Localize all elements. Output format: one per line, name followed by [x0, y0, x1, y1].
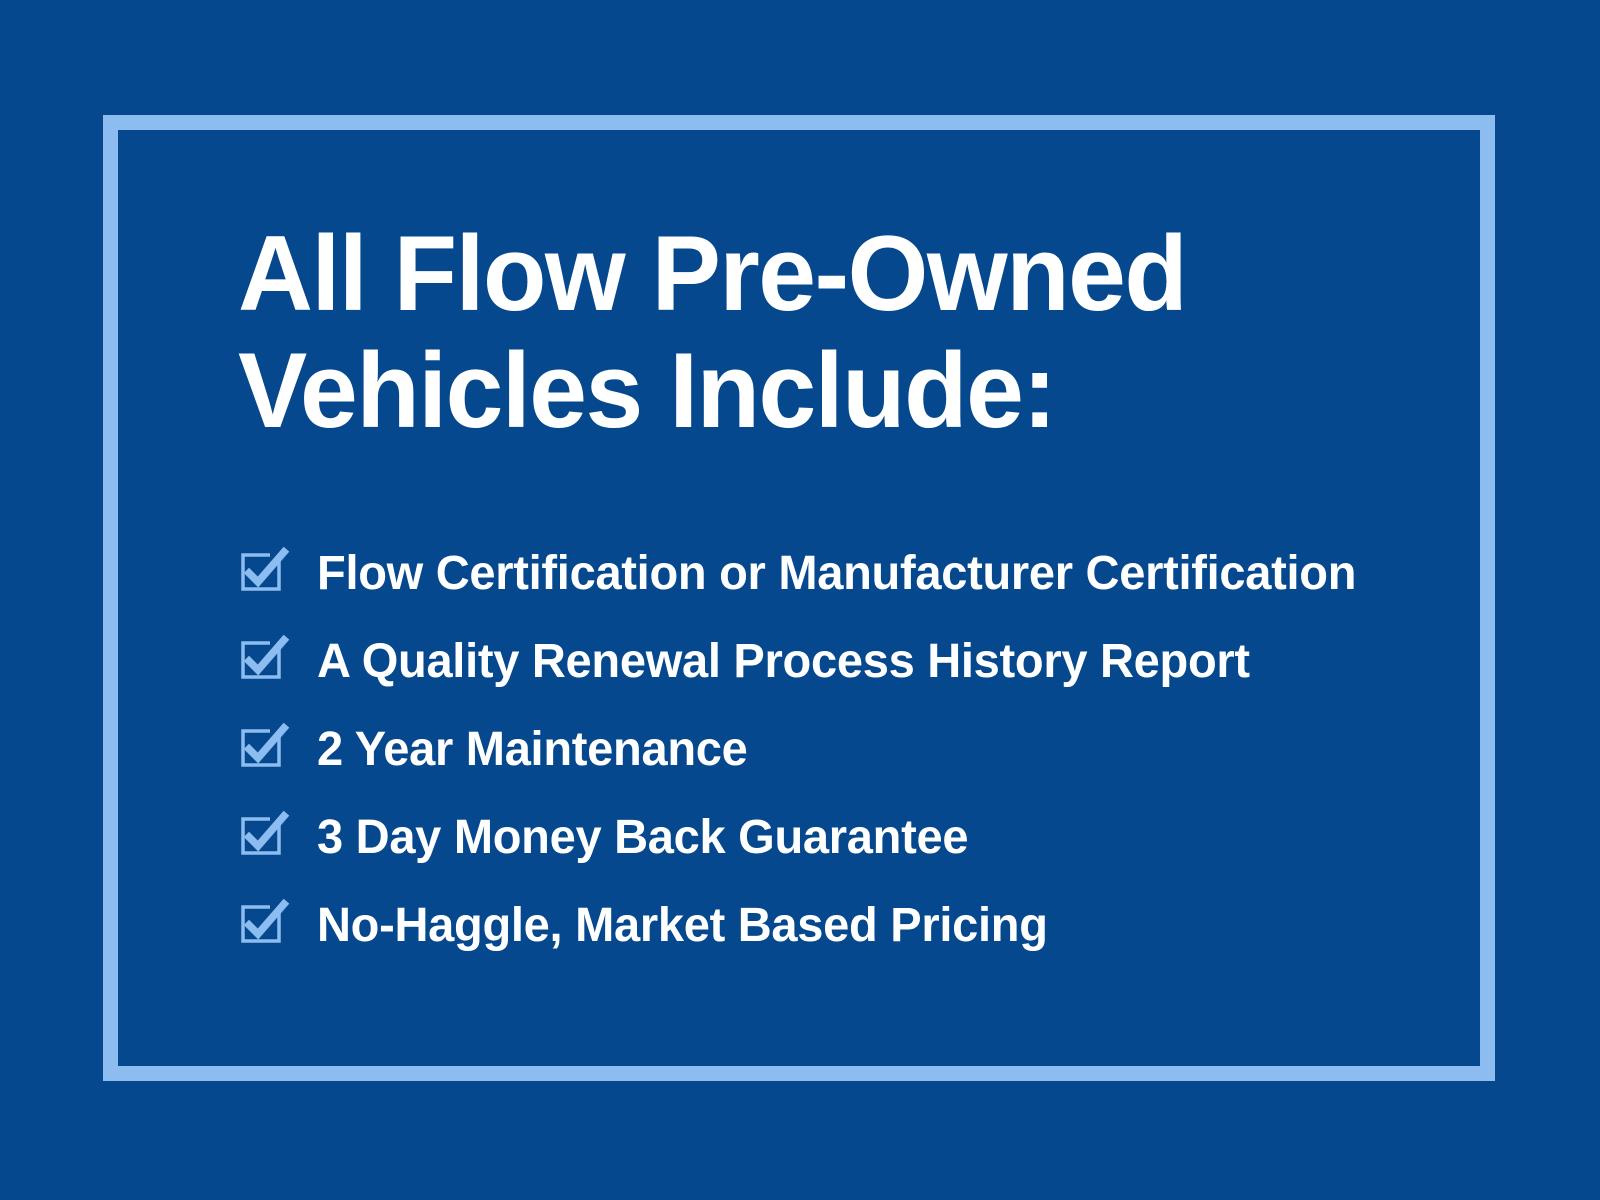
list-item: Flow Certification or Manufacturer Certi… — [240, 530, 1470, 618]
checkbox-checked-icon — [240, 553, 282, 595]
list-item: A Quality Renewal Process History Report — [240, 618, 1470, 706]
checkbox-checked-icon — [240, 641, 282, 683]
list-item-label: Flow Certification or Manufacturer Certi… — [317, 548, 1356, 600]
promo-frame: All Flow Pre-Owned Vehicles Include: Flo… — [103, 115, 1495, 1081]
list-item: 3 Day Money Back Guarantee — [240, 794, 1470, 882]
checkbox-checked-icon — [240, 817, 282, 859]
checkbox-checked-icon — [240, 729, 282, 771]
list-item: 2 Year Maintenance — [240, 706, 1470, 794]
checkbox-checked-icon — [240, 905, 282, 947]
list-item-label: 3 Day Money Back Guarantee — [317, 812, 968, 864]
list-item: No-Haggle, Market Based Pricing — [240, 882, 1470, 970]
page-title: All Flow Pre-Owned Vehicles Include: — [238, 215, 1338, 449]
page-title-line-1: All Flow Pre-Owned — [238, 215, 1305, 332]
benefits-list: Flow Certification or Manufacturer Certi… — [240, 530, 1470, 970]
list-item-label: 2 Year Maintenance — [317, 724, 747, 776]
page-title-line-2: Vehicles Include: — [238, 332, 1305, 449]
list-item-label: A Quality Renewal Process History Report — [317, 636, 1250, 688]
list-item-label: No-Haggle, Market Based Pricing — [317, 900, 1048, 952]
